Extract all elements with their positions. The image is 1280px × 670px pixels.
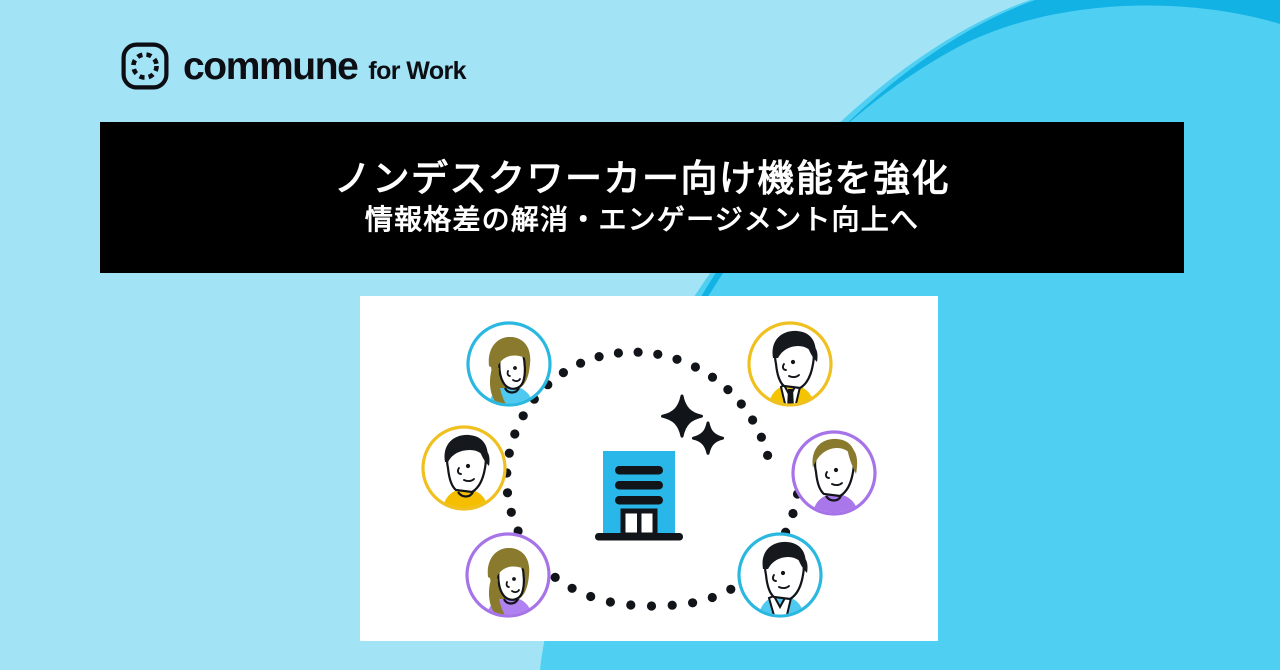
avatar-top-left[interactable] <box>468 323 550 408</box>
page-subtitle: 情報格差の解消・エンゲージメント向上へ <box>365 203 919 237</box>
page-title: ノンデスクワーカー向け機能を強化 <box>334 158 950 201</box>
avatar-top-right[interactable] <box>749 323 831 408</box>
illustration-card <box>360 296 938 641</box>
headline-banner: ノンデスクワーカー向け機能を強化 情報格差の解消・エンゲージメント向上へ <box>100 122 1184 273</box>
promo-banner-page: commune for Work ノンデスクワーカー向け機能を強化 情報格差の解… <box>0 0 1280 670</box>
commune-dotted-circle-logo-icon <box>121 42 169 90</box>
brand-logo[interactable]: commune for Work <box>121 42 466 90</box>
company-building-icon <box>595 451 683 541</box>
logo-suffix: for Work <box>368 59 466 84</box>
logo-wordmark: commune for Work <box>183 47 466 86</box>
logo-word: commune <box>183 47 357 86</box>
avatar-mid-right[interactable] <box>793 432 875 517</box>
network-illustration <box>360 296 938 641</box>
avatar-bottom-left[interactable] <box>467 534 549 619</box>
avatar-bottom-right[interactable] <box>739 534 821 619</box>
avatar-mid-left[interactable] <box>423 427 505 512</box>
